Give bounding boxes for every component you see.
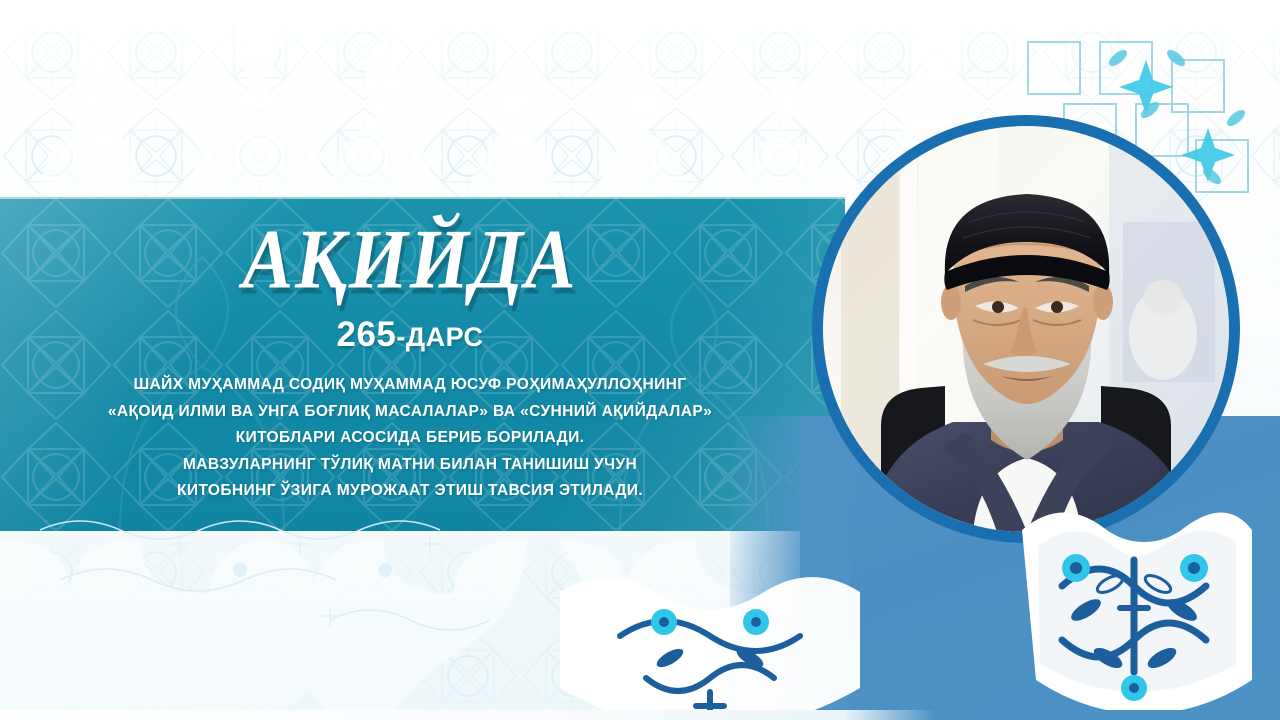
description-block: ШАЙХ МУҲАММАД СОДИҚ МУҲАММАД ЮСУФ РОҲИМА… xyxy=(0,355,820,505)
lesson-number: 265 xyxy=(337,315,397,354)
poster-canvas: АҚИЙДА 265-ДАРС ШАЙХ МУҲАММАД СОДИҚ МУҲА… xyxy=(0,0,1280,720)
lesson-separator: - xyxy=(396,322,406,352)
description-line-5: КИТОБНИНГ ЎЗИГА МУРОЖААТ ЭТИШ ТАВСИЯ ЭТИ… xyxy=(0,478,820,505)
medallion-bottom-center xyxy=(560,566,860,720)
banner-text-block: АҚИЙДА 265-ДАРС ШАЙХ МУҲАММАД СОДИҚ МУҲА… xyxy=(0,197,820,531)
portrait-circle xyxy=(823,126,1229,532)
description-line-2: «АҚОИД ИЛМИ ВА УНГА БОҒЛИҚ МАСАЛАЛАР» ВА… xyxy=(0,399,820,426)
description-line-3: КИТОБЛАРИ АСОСИДА БЕРИБ БОРИЛАДИ. xyxy=(0,425,820,452)
portrait-photo xyxy=(823,126,1229,532)
page-title: АҚИЙДА xyxy=(0,197,820,302)
bottom-strip xyxy=(0,710,1280,720)
description-line-4: МАВЗУЛАРНИНГ ТЎЛИҚ МАТНИ БИЛАН ТАНИШИШ У… xyxy=(0,452,820,479)
lesson-word: ДАРС xyxy=(406,322,484,352)
medallion-bottom-right xyxy=(1012,490,1262,720)
description-line-1: ШАЙХ МУҲАММАД СОДИҚ МУҲАММАД ЮСУФ РОҲИМА… xyxy=(0,372,820,399)
